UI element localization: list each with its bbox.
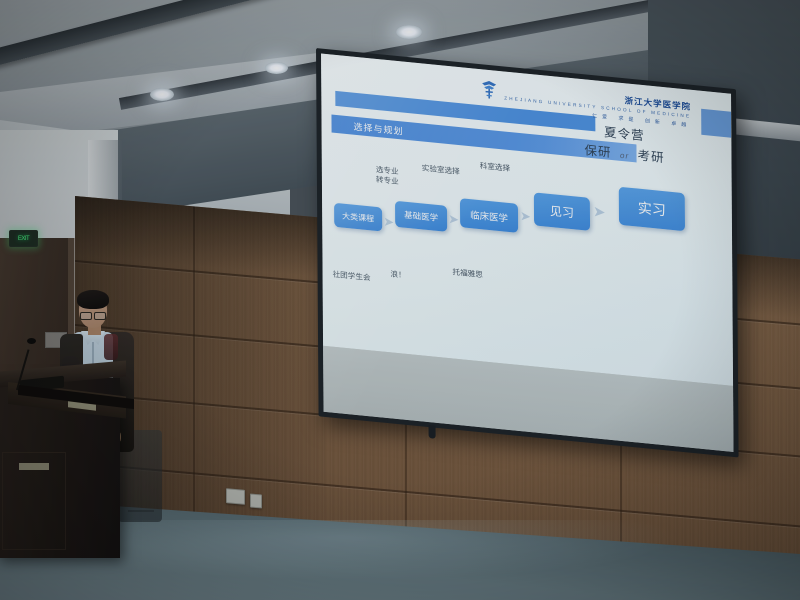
recommended-admission-label: 保研	[584, 143, 611, 160]
note-student-union: 社团学生会	[333, 269, 371, 284]
slide-title: 选择与规划	[353, 119, 403, 137]
podium-nameplate	[19, 463, 49, 470]
note-toefl-ielts: 托福雅思	[452, 266, 482, 280]
screen-frame: 浙江大学医学院 ZHEJIANG UNIVERSITY SCHOOL OF ME…	[316, 48, 739, 457]
flow-step-basic-medicine[interactable]: 基础医学	[395, 201, 447, 232]
flow-arrow-icon: ➤	[520, 209, 531, 223]
ceiling-downlight-icon	[150, 88, 174, 101]
ceiling-downlight-icon	[265, 62, 288, 74]
projection-screen[interactable]: 浙江大学医学院 ZHEJIANG UNIVERSITY SCHOOL OF ME…	[316, 48, 739, 469]
zju-medicine-emblem-icon	[478, 79, 500, 101]
slide-corner-accent	[701, 109, 731, 138]
flow-step-clerkship[interactable]: 见习	[534, 192, 590, 231]
screen-surface: 浙江大学医学院 ZHEJIANG UNIVERSITY SCHOOL OF ME…	[321, 53, 733, 451]
or-connector: or	[620, 151, 629, 161]
caption-lab-selection: 实验室选择	[422, 163, 460, 177]
microphone-icon	[27, 338, 36, 344]
chair-base	[128, 510, 154, 528]
entrance-exam-label: 考研	[638, 149, 665, 166]
wall-switch[interactable]	[250, 493, 262, 508]
flow-arrow-icon: ➤	[383, 215, 394, 229]
flow-step-general-courses[interactable]: 大类课程	[334, 203, 382, 232]
screen-bottom-hook	[429, 425, 436, 439]
presentation-slide: 浙江大学医学院 ZHEJIANG UNIVERSITY SCHOOL OF ME…	[321, 53, 733, 385]
exit-sign: EXIT	[9, 230, 38, 247]
exit-sign-label: EXIT	[18, 236, 29, 242]
speaker-jacket-lining	[104, 334, 118, 360]
glasses-icon	[80, 312, 106, 318]
flow-arrow-icon: ➤	[593, 204, 606, 220]
caption-major-selection: 选专业转专业	[376, 165, 399, 188]
caption-department-selection: 科室选择	[480, 161, 510, 174]
floor-reflection	[120, 520, 680, 580]
flow-step-clinical-medicine[interactable]: 临床医学	[460, 198, 518, 233]
wall-socket[interactable]	[226, 488, 245, 505]
flow-arrow-icon: ➤	[448, 212, 459, 226]
ceiling-downlight-icon	[396, 25, 422, 39]
speaker-hair	[77, 290, 109, 309]
flow-step-internship[interactable]: 实习	[619, 187, 685, 232]
lecture-hall-photo: EXIT	[0, 0, 800, 600]
note-have-fun: 浪！	[390, 268, 405, 280]
